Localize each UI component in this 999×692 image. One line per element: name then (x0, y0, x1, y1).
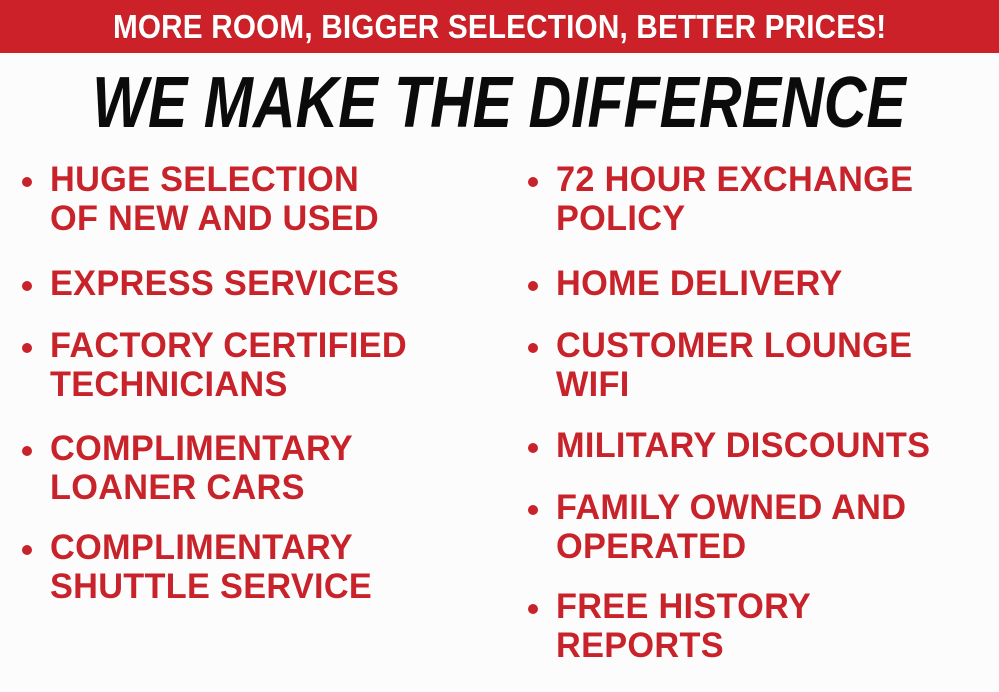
features-column-right: 72 HOUR EXCHANGE POLICY HOME DELIVERY CU… (518, 160, 999, 692)
list-item: MILITARY DISCOUNTS (518, 426, 999, 465)
headline-container: WE MAKE THE DIFFERENCE (0, 62, 999, 144)
list-item-label: 72 HOUR EXCHANGE POLICY (556, 160, 990, 238)
list-item: CUSTOMER LOUNGE WIFI (518, 326, 999, 404)
list-item-label: COMPLIMENTARY LOANER CARS (50, 429, 495, 507)
bullet-dot-icon (528, 505, 538, 515)
list-item: FACTORY CERTIFIED TECHNICIANS (14, 326, 504, 404)
list-item-label: COMPLIMENTARY SHUTTLE SERVICE (50, 528, 495, 606)
list-item: 72 HOUR EXCHANGE POLICY (518, 160, 999, 238)
bullet-dot-icon (528, 281, 538, 291)
bullet-dot-icon (22, 343, 32, 353)
list-item-label: HUGE SELECTION OF NEW AND USED (50, 160, 495, 238)
bullet-dot-icon (22, 446, 32, 456)
features-column-left: HUGE SELECTION OF NEW AND USED EXPRESS S… (14, 160, 504, 692)
page-title: WE MAKE THE DIFFERENCE (93, 67, 906, 139)
list-item-label: FREE HISTORY REPORTS (556, 587, 990, 665)
bullet-dot-icon (528, 343, 538, 353)
list-item: FREE HISTORY REPORTS (518, 587, 999, 665)
bullet-dot-icon (22, 177, 32, 187)
list-item: COMPLIMENTARY SHUTTLE SERVICE (14, 528, 504, 606)
bullet-dot-icon (22, 545, 32, 555)
features-columns: HUGE SELECTION OF NEW AND USED EXPRESS S… (0, 160, 999, 692)
list-item: COMPLIMENTARY LOANER CARS (14, 429, 504, 507)
bullet-dot-icon (528, 177, 538, 187)
bullet-dot-icon (22, 281, 32, 291)
bullet-dot-icon (528, 604, 538, 614)
list-item-label: FACTORY CERTIFIED TECHNICIANS (50, 326, 495, 404)
list-item-label: MILITARY DISCOUNTS (556, 426, 990, 465)
bullet-dot-icon (528, 443, 538, 453)
list-item-label: FAMILY OWNED AND OPERATED (556, 488, 990, 566)
list-item-label: EXPRESS SERVICES (50, 264, 495, 303)
list-item-label: CUSTOMER LOUNGE WIFI (556, 326, 990, 404)
list-item: FAMILY OWNED AND OPERATED (518, 488, 999, 566)
list-item: EXPRESS SERVICES (14, 264, 504, 303)
list-item: HOME DELIVERY (518, 264, 999, 303)
promo-banner: MORE ROOM, BIGGER SELECTION, BETTER PRIC… (0, 0, 999, 53)
list-item: HUGE SELECTION OF NEW AND USED (14, 160, 504, 238)
advertisement-banner: MORE ROOM, BIGGER SELECTION, BETTER PRIC… (0, 0, 999, 692)
list-item-label: HOME DELIVERY (556, 264, 990, 303)
promo-banner-text: MORE ROOM, BIGGER SELECTION, BETTER PRIC… (113, 10, 886, 43)
